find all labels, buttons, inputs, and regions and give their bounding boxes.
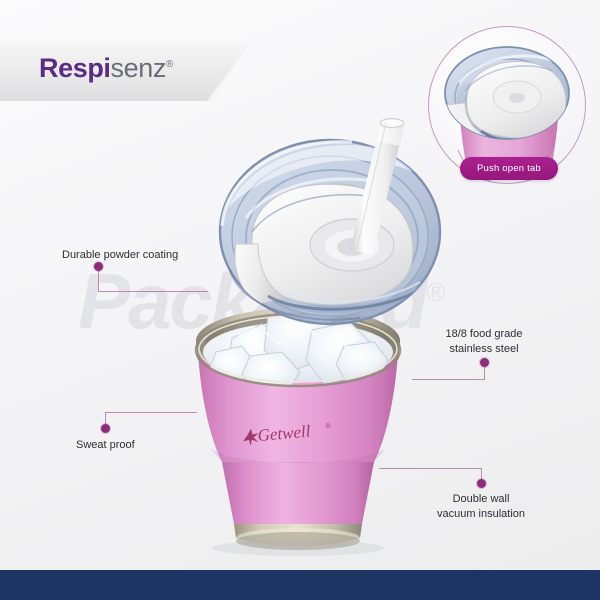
callout-sweat-proof-label: Sweat proof [76, 438, 135, 453]
callout-sweat-proof-marker [101, 424, 110, 433]
callout-durable-powder-coating-lead-h [98, 291, 208, 292]
product-body-logo: Getwell ® [242, 420, 332, 447]
callout-line-1: 18/8 food grade [408, 327, 560, 342]
callout-durable-powder-coating-lead-v [98, 270, 99, 292]
callout-double-wall-lead-h [379, 468, 481, 469]
inset-push-open-tab-badge: Push open tab [460, 157, 558, 180]
callout-sweat-proof-lead-h [105, 412, 197, 413]
infographic-canvas: Respisenz® Packaged® [0, 0, 600, 600]
callout-double-wall-marker [477, 479, 486, 488]
callout-line-2: stainless steel [408, 342, 560, 357]
footer-bar [0, 570, 600, 600]
callout-food-grade-steel-lead-v [484, 366, 485, 380]
callout-line-1: Durable powder coating [62, 248, 178, 263]
brand-logo-light: senz [111, 53, 166, 83]
watermark-text: Packaged [78, 257, 426, 345]
callout-line-2: vacuum insulation [405, 507, 557, 522]
callout-food-grade-steel-lead-h [412, 379, 485, 380]
watermark: Packaged® [78, 262, 443, 340]
callout-line-1: Sweat proof [76, 438, 135, 453]
callout-line-1: Double wall [405, 492, 557, 507]
callout-durable-powder-coating-label: Durable powder coating [62, 248, 178, 263]
svg-text:®: ® [325, 421, 332, 430]
brand-logo-registered-icon: ® [166, 59, 173, 70]
svg-text:Getwell: Getwell [257, 422, 312, 446]
watermark-registered-icon: ® [426, 277, 443, 307]
callout-food-grade-steel-marker [480, 358, 489, 367]
callout-double-wall-label: Double wall vacuum insulation [405, 492, 557, 522]
brand-logo-bold: Respi [39, 53, 111, 83]
brand-logo: Respisenz® [39, 55, 173, 82]
product-straw [350, 119, 404, 255]
callout-durable-powder-coating-marker [94, 262, 103, 271]
callout-food-grade-steel-label: 18/8 food grade stainless steel [408, 327, 560, 357]
